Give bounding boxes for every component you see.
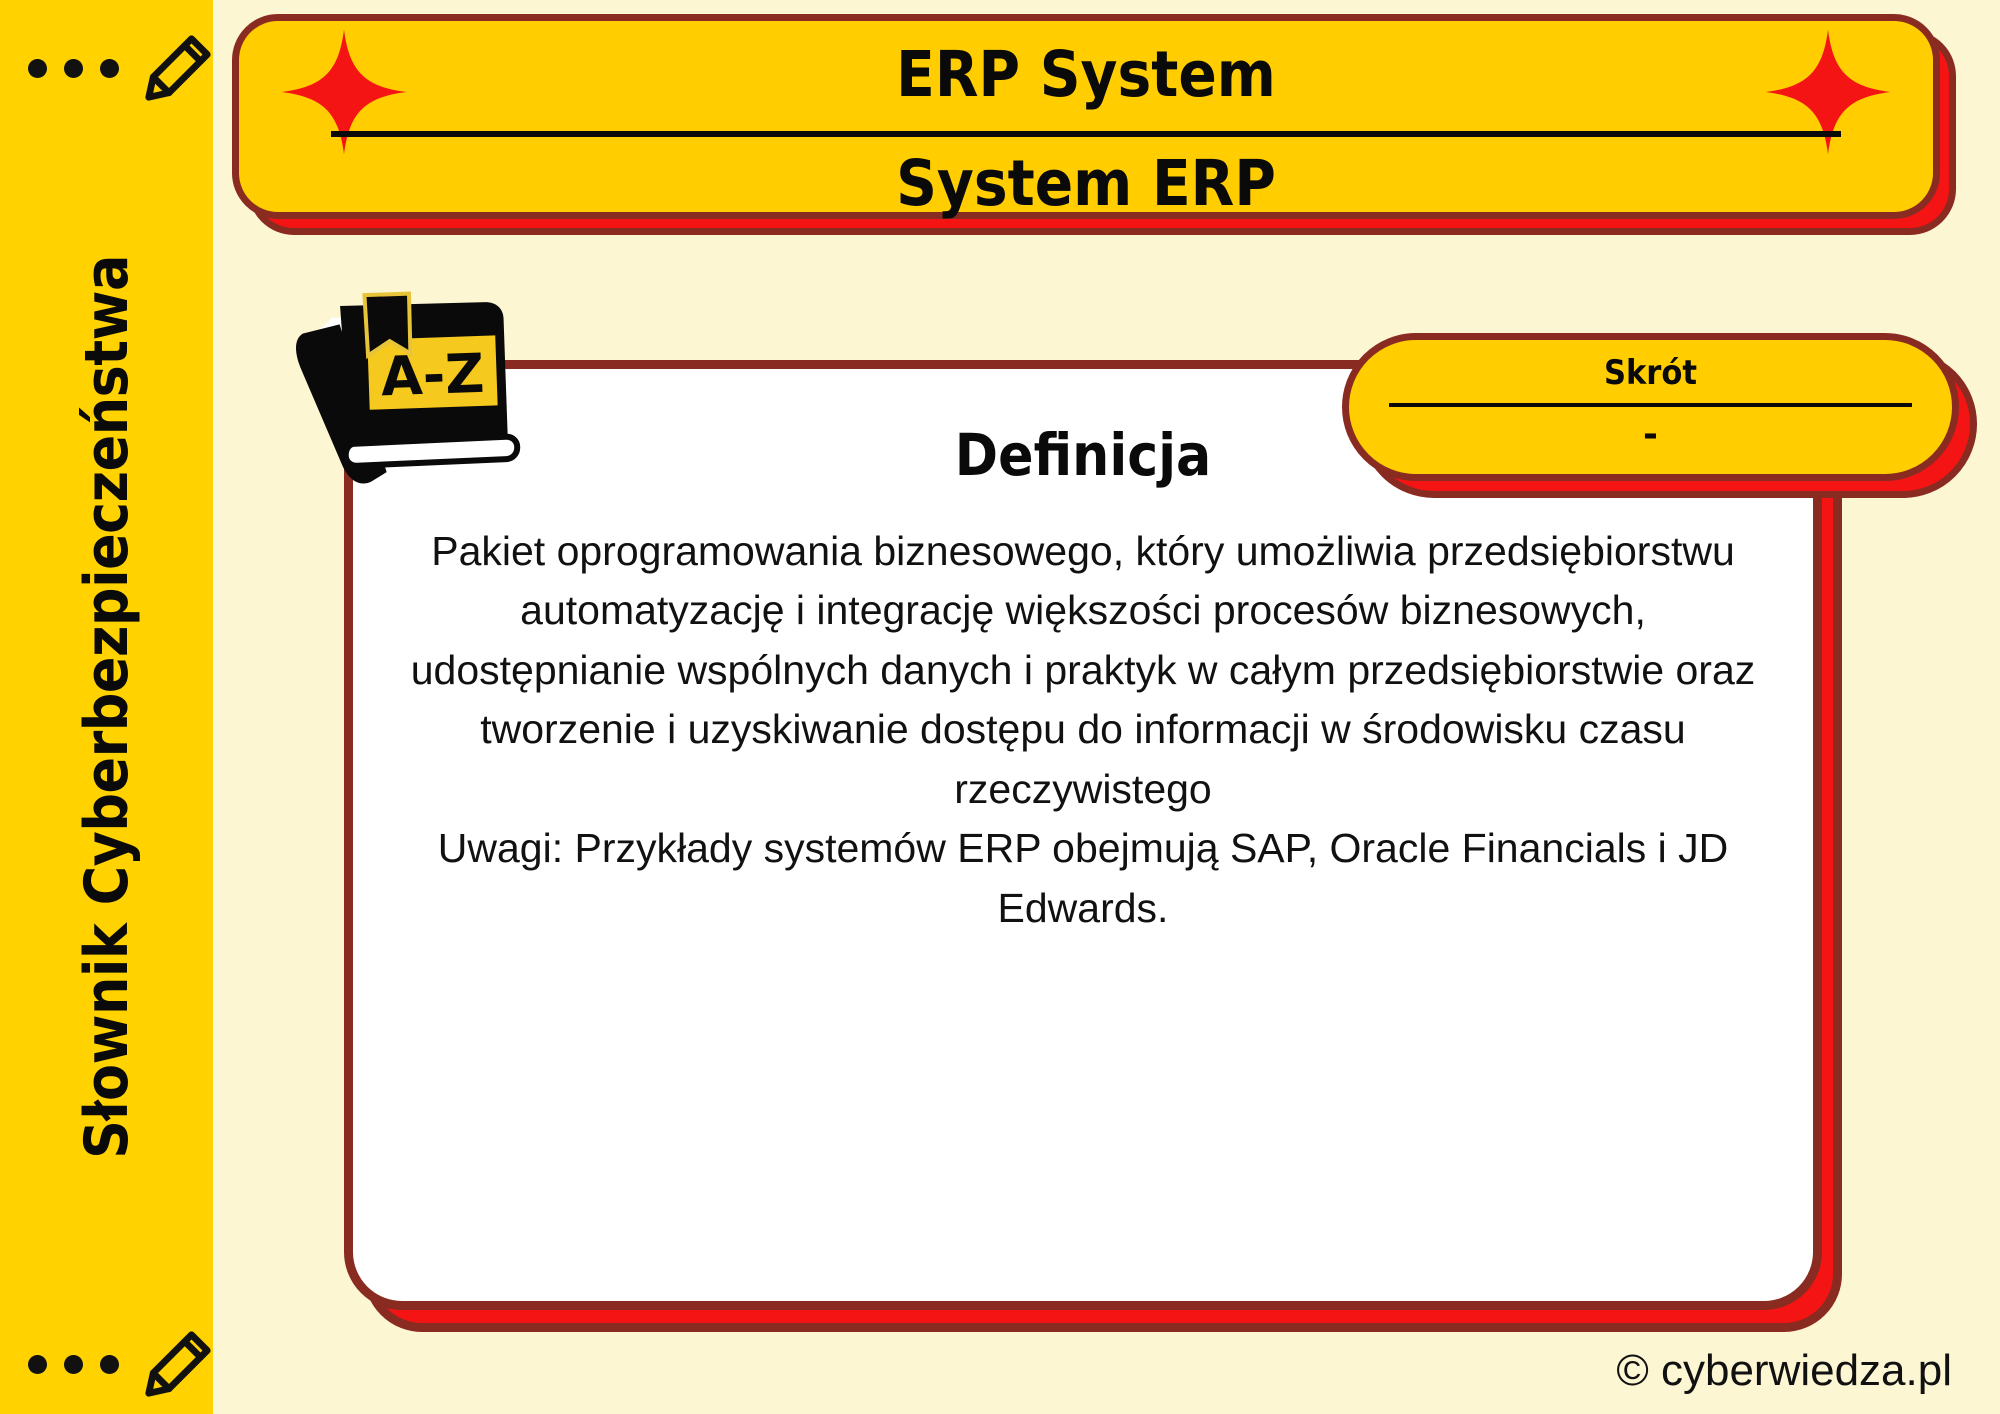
svg-text:A-Z: A-Z — [380, 342, 485, 409]
header-card: ERP System System ERP — [232, 14, 1940, 219]
footer-credit: © cyberwiedza.pl — [1616, 1346, 1952, 1396]
dot-icon — [64, 1355, 83, 1374]
definition-card: Definicja Pakiet oprogramowania biznesow… — [344, 360, 1822, 1310]
abbreviation-pill: Skrót - — [1342, 333, 1959, 481]
header-divider — [331, 131, 1841, 137]
abbreviation-divider — [1389, 403, 1912, 407]
term-title-english: ERP System — [239, 43, 1933, 106]
az-dictionary-book-icon: A-Z — [285, 255, 545, 500]
glossary-card-page: Słownik Cyberbezpieczeństwa — [0, 0, 2000, 1414]
sidebar-title-text: Słownik Cyberbezpieczeństwa — [72, 255, 142, 1159]
dot-icon — [28, 1355, 47, 1374]
term-title-polish: System ERP — [239, 152, 1933, 215]
pencil-icon — [142, 1328, 214, 1400]
abbreviation-label: Skrót — [1349, 353, 1952, 393]
sidebar-decoration-bottom — [28, 1316, 188, 1412]
definition-body: Pakiet oprogramowania biznesowego, który… — [395, 522, 1771, 938]
dot-icon — [100, 1355, 119, 1374]
sidebar: Słownik Cyberbezpieczeństwa — [0, 0, 213, 1414]
sidebar-title: Słownik Cyberbezpieczeństwa — [0, 0, 213, 1414]
abbreviation-value: - — [1349, 414, 1952, 455]
